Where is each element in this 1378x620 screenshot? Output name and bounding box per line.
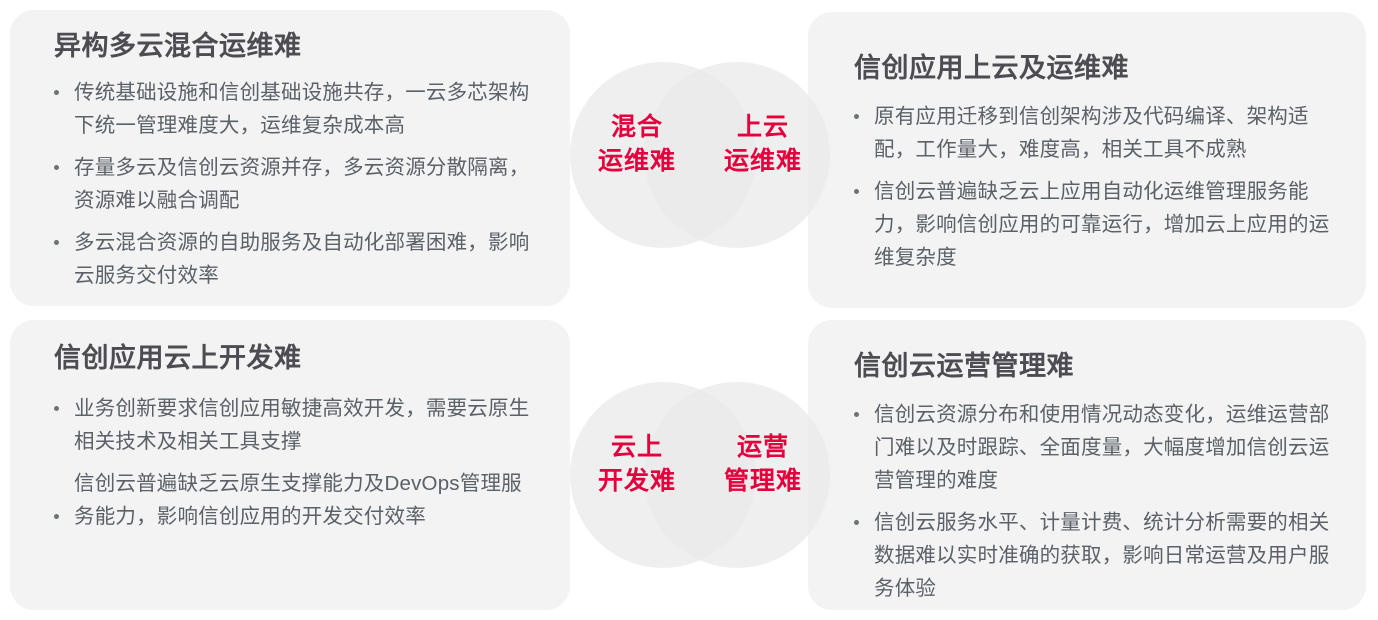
- card-title: 异构多云混合运维难: [54, 30, 540, 64]
- bullet-list: 信创云资源分布和使用情况动态变化，运维运营部门难以及时跟踪、全面度量，大幅度增加…: [848, 398, 1336, 605]
- bullet-dot-icon: [854, 189, 859, 194]
- list-item: 传统基础设施和信创基础设施共存，一云多芯架构下统一管理难度大，运维复杂成本高: [48, 76, 540, 142]
- bullet-dot-icon: [854, 412, 859, 417]
- bullet-list: 原有应用迁移到信创架构涉及代码编译、架构适配，工作量大，难度高，相关工具不成熟 …: [848, 100, 1336, 274]
- card-title: 信创云运营管理难: [854, 350, 1336, 384]
- bullet-list: 业务创新要求信创应用敏捷高效开发，需要云原生相关技术及相关工具支撑 信创云普遍缺…: [48, 392, 540, 533]
- bullet-dot-icon: [54, 165, 59, 170]
- list-item: 存量多云及信创云资源并存，多云资源分散隔离，资源难以融合调配: [48, 151, 540, 217]
- list-item-text: 业务创新要求信创应用敏捷高效开发，需要云原生相关技术及相关工具支撑: [74, 397, 529, 453]
- bullet-list: 传统基础设施和信创基础设施共存，一云多芯架构下统一管理难度大，运维复杂成本高 存…: [48, 76, 540, 292]
- venn-label-cloud-migration-ops: 上云 运维难: [688, 110, 838, 178]
- bullet-dot-icon: [54, 90, 59, 95]
- list-item-text: 多云混合资源的自助服务及自动化部署困难，影响云服务交付效率: [74, 231, 529, 287]
- card-heterogeneous-multicloud-ops: 异构多云混合运维难 传统基础设施和信创基础设施共存，一云多芯架构下统一管理难度大…: [10, 10, 570, 306]
- list-item: 信创云普遍缺乏云原生支撑能力及DevOps管理服务能力，影响信创应用的开发交付效…: [48, 467, 540, 533]
- list-item: 信创云资源分布和使用情况动态变化，运维运营部门难以及时跟踪、全面度量，大幅度增加…: [848, 398, 1336, 497]
- list-item: 原有应用迁移到信创架构涉及代码编译、架构适配，工作量大，难度高，相关工具不成熟: [848, 100, 1336, 166]
- venn-label-operations-management: 运营 管理难: [688, 430, 838, 498]
- list-item: 业务创新要求信创应用敏捷高效开发，需要云原生相关技术及相关工具支撑: [48, 392, 540, 458]
- list-item-text: 信创云普遍缺乏云上应用自动化运维管理服务能力，影响信创应用的可靠运行，增加云上应…: [874, 180, 1329, 269]
- list-item-text: 存量多云及信创云资源并存，多云资源分散隔离，资源难以融合调配: [74, 156, 529, 212]
- list-item-text: 信创云服务水平、计量计费、统计分析需要的相关数据难以实时准确的获取，影响日常运营…: [874, 511, 1329, 600]
- list-item-text: 信创云普遍缺乏云原生支撑能力及DevOps管理服务能力，影响信创应用的开发交付效…: [74, 472, 522, 528]
- bullet-dot-icon: [54, 240, 59, 245]
- list-item-text: 信创云资源分布和使用情况动态变化，运维运营部门难以及时跟踪、全面度量，大幅度增加…: [874, 403, 1329, 492]
- bullet-dot-icon: [854, 114, 859, 119]
- card-title: 信创应用云上开发难: [54, 342, 540, 376]
- bullet-dot-icon: [54, 514, 59, 519]
- card-app-migration-ops: 信创应用上云及运维难 原有应用迁移到信创架构涉及代码编译、架构适配，工作量大，难…: [808, 12, 1366, 308]
- list-item: 信创云服务水平、计量计费、统计分析需要的相关数据难以实时准确的获取，影响日常运营…: [848, 506, 1336, 605]
- list-item: 信创云普遍缺乏云上应用自动化运维管理服务能力，影响信创应用的可靠运行，增加云上应…: [848, 175, 1336, 274]
- list-item-text: 传统基础设施和信创基础设施共存，一云多芯架构下统一管理难度大，运维复杂成本高: [74, 81, 529, 137]
- venn-diagram-top: 混合 运维难 上云 运维难: [570, 62, 830, 252]
- diagram-canvas: 异构多云混合运维难 传统基础设施和信创基础设施共存，一云多芯架构下统一管理难度大…: [0, 0, 1378, 620]
- card-cloud-operations-management: 信创云运营管理难 信创云资源分布和使用情况动态变化，运维运营部门难以及时跟踪、全…: [808, 320, 1366, 610]
- bullet-dot-icon: [54, 406, 59, 411]
- list-item-text: 原有应用迁移到信创架构涉及代码编译、架构适配，工作量大，难度高，相关工具不成熟: [874, 105, 1309, 161]
- bullet-dot-icon: [854, 520, 859, 525]
- card-cloud-native-development: 信创应用云上开发难 业务创新要求信创应用敏捷高效开发，需要云原生相关技术及相关工…: [10, 320, 570, 610]
- venn-diagram-bottom: 云上 开发难 运营 管理难: [570, 382, 830, 572]
- card-title: 信创应用上云及运维难: [854, 52, 1336, 86]
- list-item: 多云混合资源的自助服务及自动化部署困难，影响云服务交付效率: [48, 226, 540, 292]
